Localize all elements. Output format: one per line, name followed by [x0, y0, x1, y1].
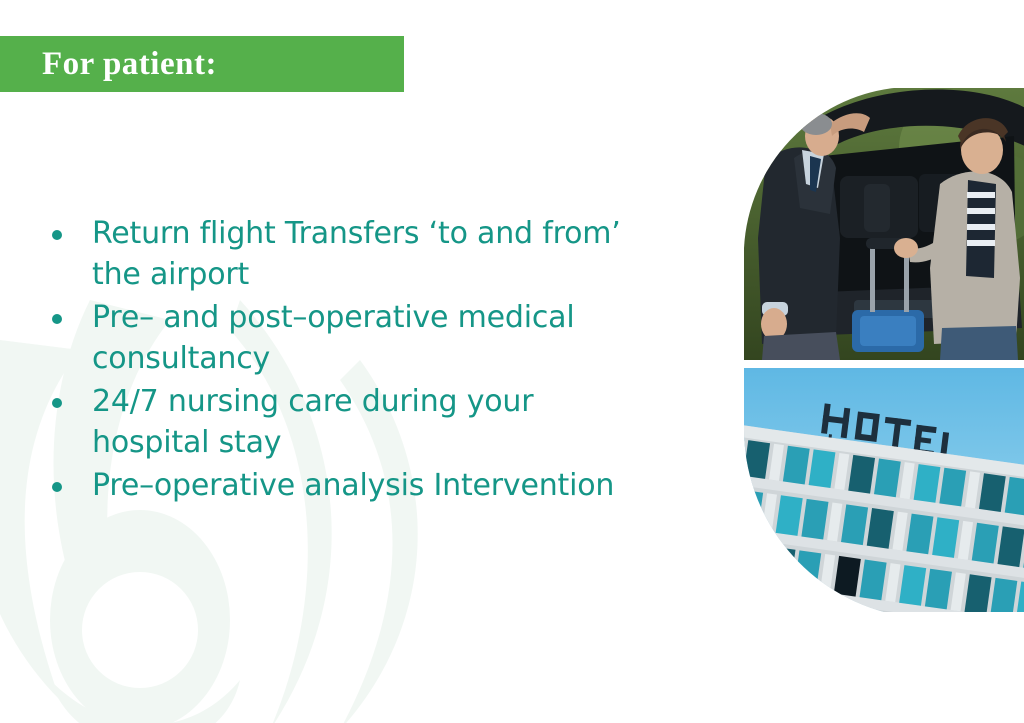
list-item: Return flight Transfers ‘to and from’ th… [52, 213, 652, 295]
bullet-dot-icon [52, 398, 62, 408]
benefits-bullet-list: Return flight Transfers ‘to and from’ th… [52, 213, 652, 508]
bullet-dot-icon [52, 482, 62, 492]
hotel-building-photo [744, 368, 1024, 612]
list-item: Pre–operative analysis Intervention [52, 465, 652, 506]
bullet-dot-icon [52, 230, 62, 240]
list-item-label: Pre– and post–operative medical consulta… [92, 297, 652, 379]
header-banner: For patient: [0, 36, 404, 92]
list-item-label: Return flight Transfers ‘to and from’ th… [92, 213, 652, 295]
page-title: For patient: [42, 48, 217, 81]
slide-canvas: For patient: Return flight Transfers ‘to… [0, 0, 1024, 723]
airport-transfer-photo [744, 88, 1024, 360]
list-item: 24/7 nursing care during your hospital s… [52, 381, 652, 463]
list-item-label: 24/7 nursing care during your hospital s… [92, 381, 652, 463]
list-item-label: Pre–operative analysis Intervention [92, 465, 652, 506]
list-item: Pre– and post–operative medical consulta… [52, 297, 652, 379]
bullet-dot-icon [52, 314, 62, 324]
